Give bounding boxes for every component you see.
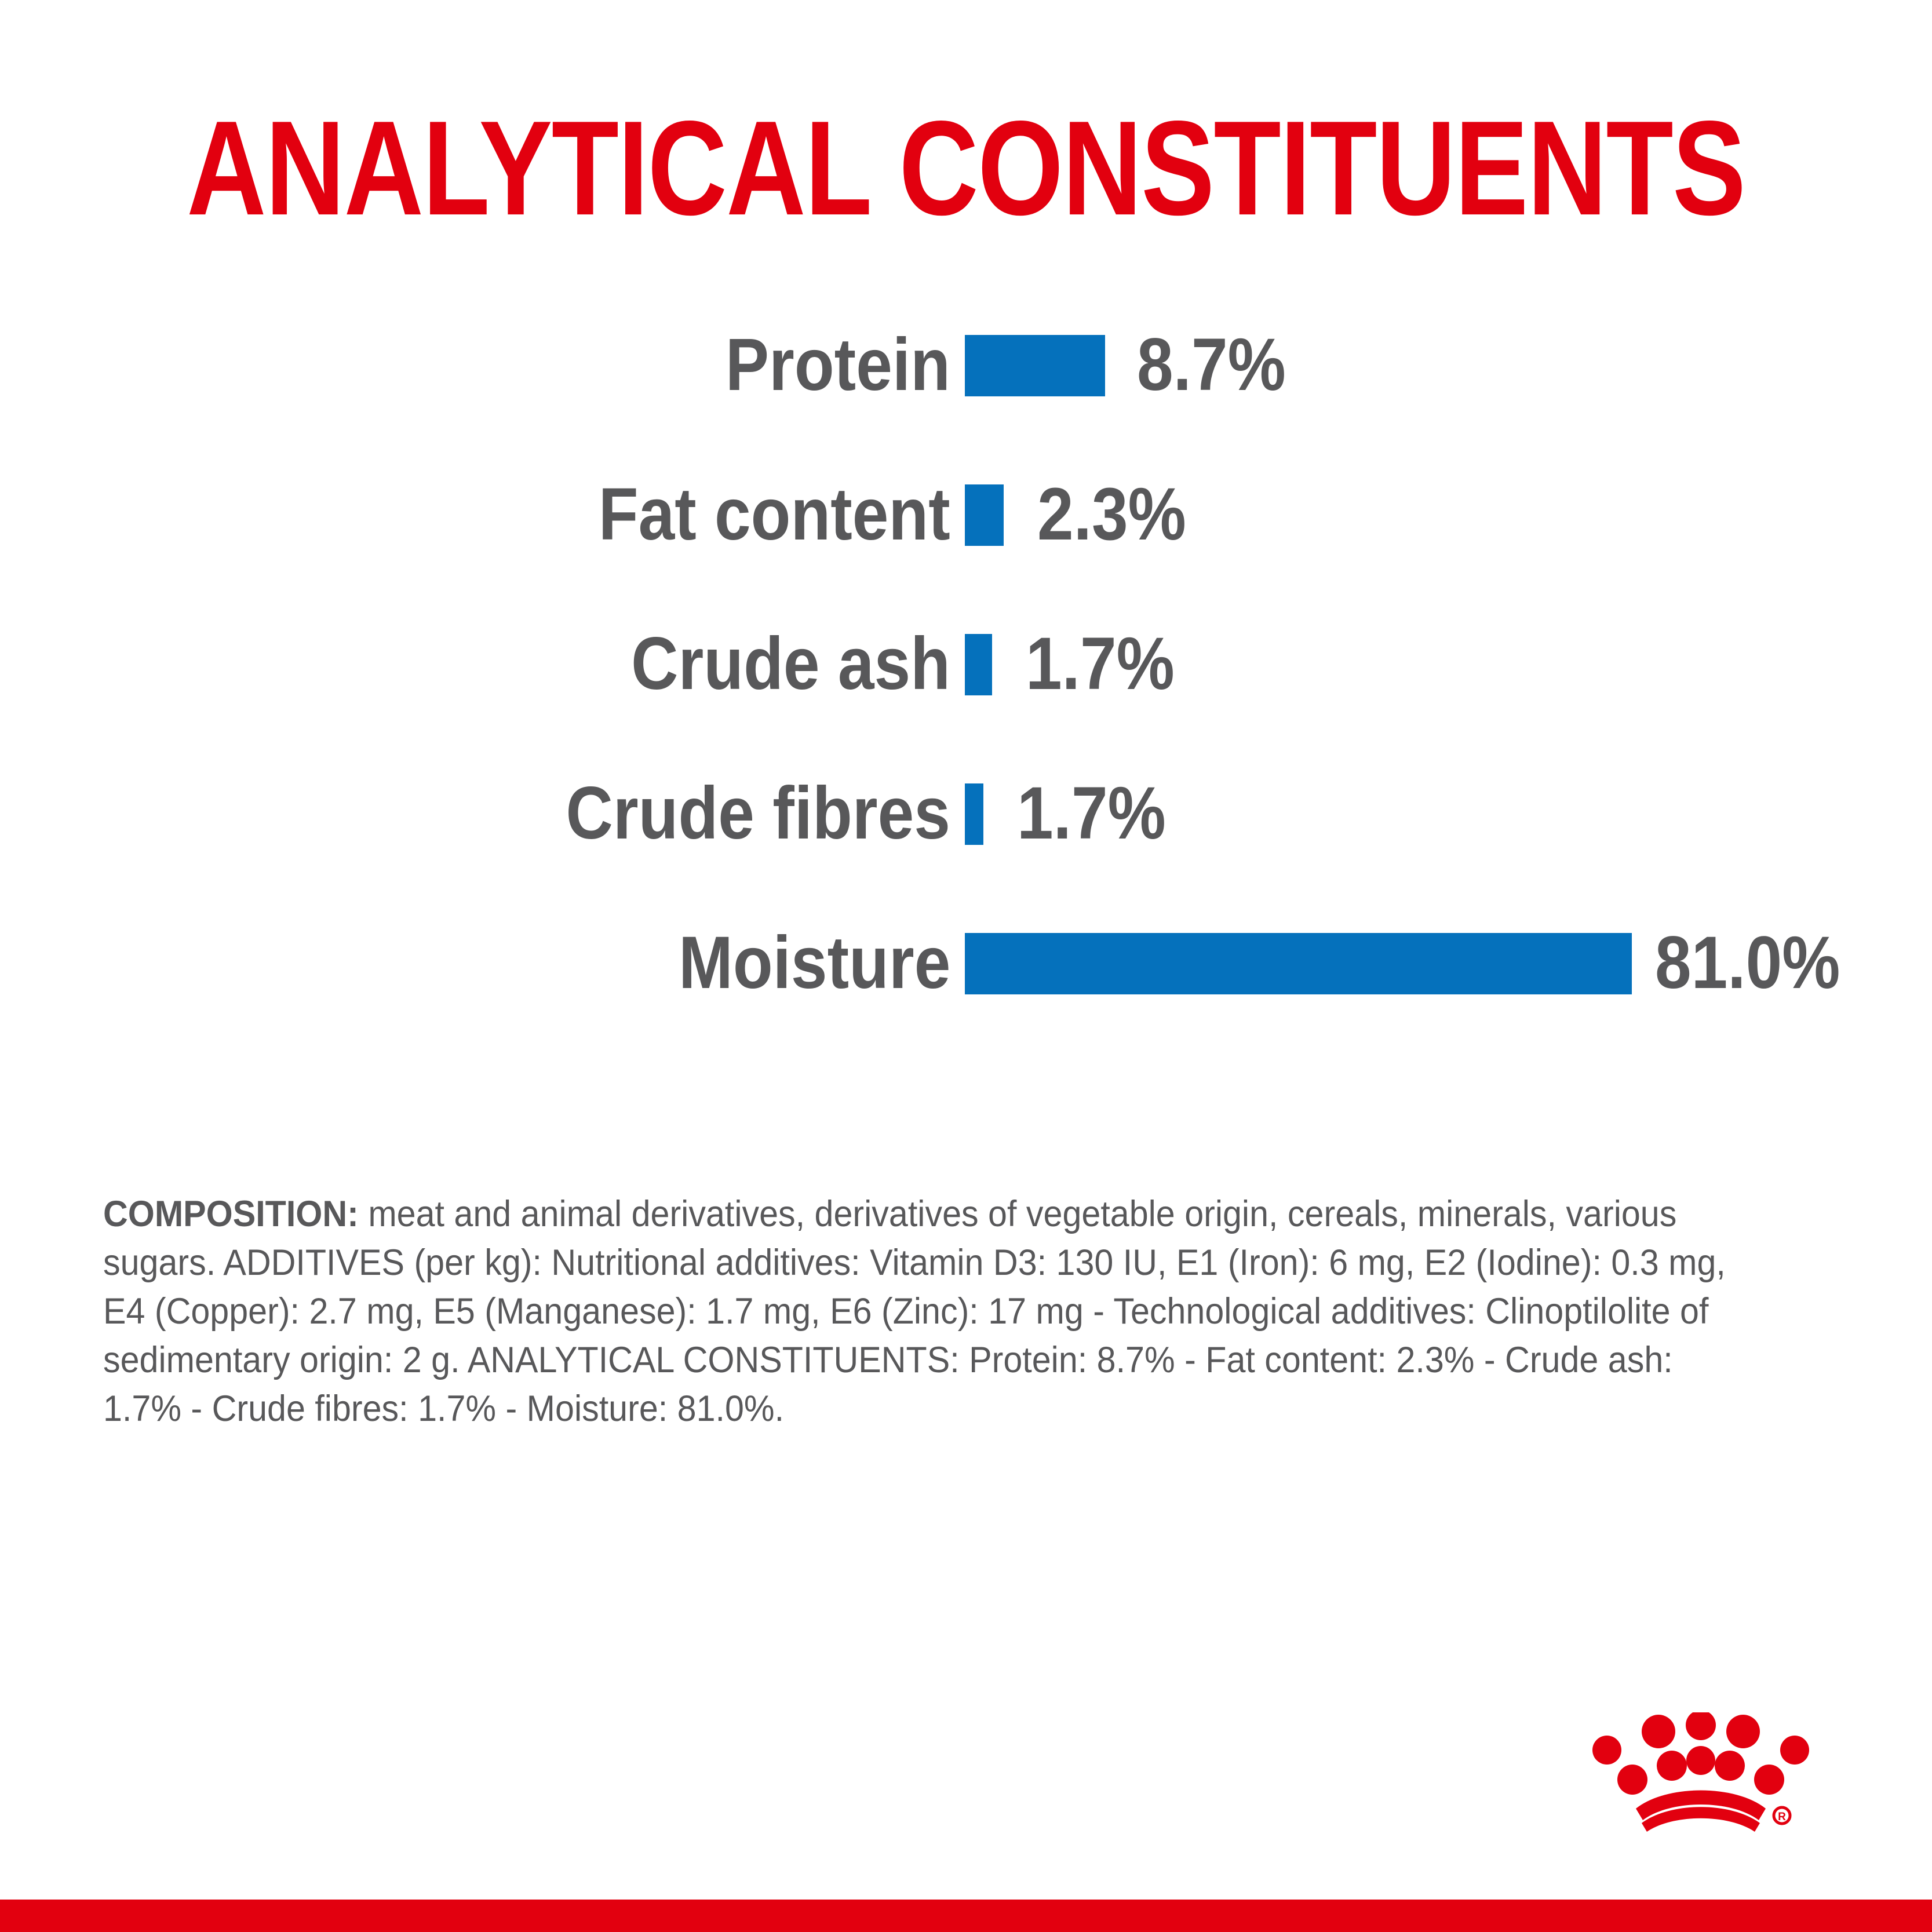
page-title-container: ANALYTICAL CONSTITUENTS	[0, 101, 1932, 236]
registered-trademark-icon: R	[1774, 1807, 1790, 1824]
bar-value-crude-ash: 1.7%	[1026, 624, 1175, 705]
bar-row-fat-content: Fat content 2.3%	[0, 474, 1932, 624]
bar-fill-protein	[965, 335, 1105, 396]
bar-label-fat-content: Fat content	[599, 474, 950, 555]
page-title: ANALYTICAL CONSTITUENTS	[187, 101, 1745, 236]
bar-fill-fat-content	[965, 484, 1004, 546]
analytical-constituents-chart: Protein 8.7% Fat content 2.3% Crude ash …	[0, 325, 1932, 1072]
bar-label-crude-ash: Crude ash	[631, 624, 950, 705]
bar-value-crude-fibres: 1.7%	[1017, 773, 1166, 854]
composition-lead-label: COMPOSITION:	[103, 1194, 359, 1234]
bar-label-crude-fibres: Crude fibres	[566, 773, 950, 854]
bar-label-moisture: Moisture	[679, 923, 950, 1004]
bar-value-protein: 8.7%	[1137, 325, 1286, 406]
bar-fill-crude-fibres	[965, 783, 983, 845]
bar-value-fat-content: 2.3%	[1037, 474, 1186, 555]
bar-label-protein: Protein	[726, 325, 950, 406]
bar-row-protein: Protein 8.7%	[0, 325, 1932, 474]
bar-row-moisture: Moisture 81.0%	[0, 923, 1932, 1072]
bar-value-moisture: 81.0%	[1655, 923, 1840, 1004]
svg-text:R: R	[1778, 1811, 1786, 1823]
bar-fill-moisture	[965, 933, 1632, 994]
bottom-red-band	[0, 1900, 1932, 1932]
bar-row-crude-ash: Crude ash 1.7%	[0, 624, 1932, 773]
royal-canin-logo: R	[1579, 1712, 1822, 1863]
bar-fill-crude-ash	[965, 634, 992, 695]
composition-paragraph: COMPOSITION: meat and animal derivatives…	[103, 1190, 1732, 1433]
bar-row-crude-fibres: Crude fibres 1.7%	[0, 773, 1932, 923]
crown-icon: R	[1579, 1712, 1822, 1863]
